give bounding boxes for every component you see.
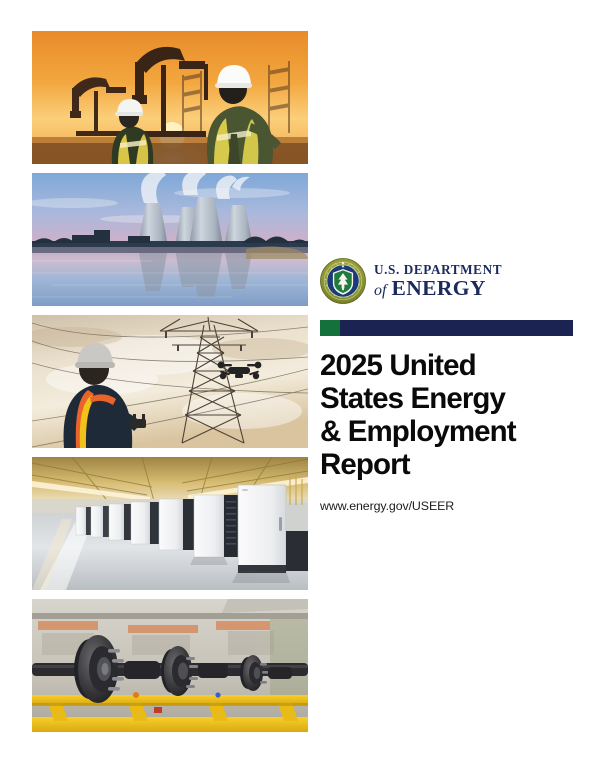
cover-photo-strip [32, 31, 308, 732]
photo-lineworker-drone-transmission-tower [32, 315, 308, 448]
doe-seal-icon [320, 258, 366, 304]
doe-of-text: of [374, 283, 386, 299]
photo-nuclear-cooling-towers [32, 173, 308, 306]
report-title: 2025 United States Energy & Employment R… [320, 350, 570, 482]
photo-data-center-server-cabinets [32, 457, 308, 590]
accent-bar-navy-segment [340, 320, 573, 336]
report-title-line-2: States Energy [320, 383, 570, 416]
accent-bar-green-segment [320, 320, 340, 336]
doe-energy-text: ENERGY [391, 278, 485, 300]
cover-title-block: U.S. DEPARTMENT of ENERGY 2025 United St… [320, 255, 578, 513]
photo-vehicle-axle-assembly-line [32, 599, 308, 732]
report-title-line-4: Report [320, 449, 570, 482]
report-url[interactable]: www.energy.gov/USEER [320, 499, 578, 513]
photo-oil-pumpjacks-workers [32, 31, 308, 164]
accent-bar [320, 320, 573, 336]
doe-department-text: U.S. DEPARTMENT [374, 263, 502, 277]
report-title-line-3: & Employment [320, 416, 570, 449]
report-title-line-1: 2025 United [320, 350, 570, 383]
report-cover-page: U.S. DEPARTMENT of ENERGY 2025 United St… [0, 0, 600, 772]
doe-logo-lockup: U.S. DEPARTMENT of ENERGY [320, 255, 578, 307]
doe-wordmark: U.S. DEPARTMENT of ENERGY [374, 263, 502, 299]
